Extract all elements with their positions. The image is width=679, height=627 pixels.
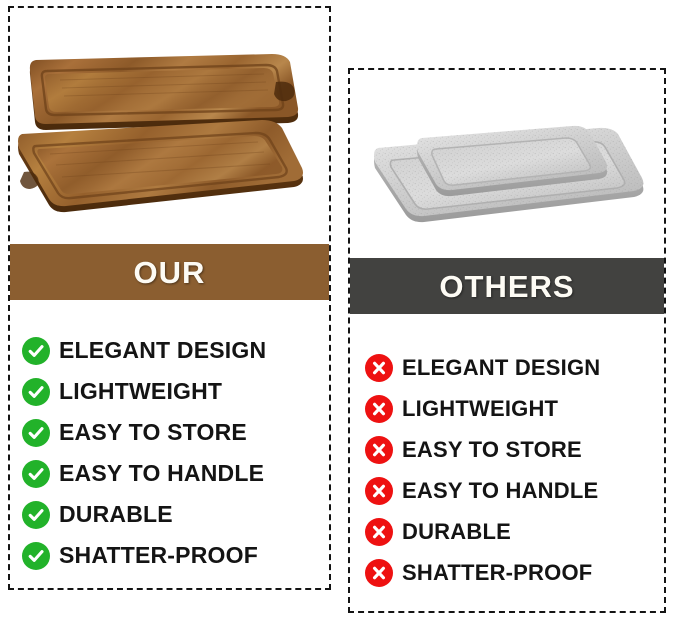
feature-row-others: EASY TO STORE (365, 429, 660, 470)
feature-label: LIGHTWEIGHT (402, 398, 558, 420)
cross-icon (365, 436, 393, 464)
feature-row-our: EASY TO STORE (22, 412, 322, 453)
cross-icon (365, 518, 393, 546)
cross-icon (365, 395, 393, 423)
feature-row-our: SHATTER-PROOF (22, 535, 322, 576)
feature-row-our: LIGHTWEIGHT (22, 371, 322, 412)
feature-label: EASY TO HANDLE (59, 462, 264, 485)
feature-list-our: ELEGANT DESIGN LIGHTWEIGHT EASY TO STORE… (22, 330, 322, 576)
wooden-trays-illustration (14, 22, 324, 236)
feature-row-others: SHATTER-PROOF (365, 552, 660, 593)
feature-row-others: LIGHTWEIGHT (365, 388, 660, 429)
cross-icon (365, 559, 393, 587)
feature-row-our: DURABLE (22, 494, 322, 535)
feature-label: EASY TO STORE (59, 421, 247, 444)
feature-label: ELEGANT DESIGN (402, 357, 600, 379)
check-icon (22, 337, 50, 365)
feature-row-others: ELEGANT DESIGN (365, 347, 660, 388)
cross-icon (365, 477, 393, 505)
feature-row-others: EASY TO HANDLE (365, 470, 660, 511)
banner-our-label: OUR (134, 257, 206, 288)
feature-row-our: ELEGANT DESIGN (22, 330, 322, 371)
product-photo-others (360, 92, 660, 252)
comparison-infographic: OUR ELEGANT DESIGN LIGHTWEIGHT EASY TO S… (0, 0, 679, 627)
feature-label: EASY TO HANDLE (402, 480, 598, 502)
feature-label: LIGHTWEIGHT (59, 380, 222, 403)
check-icon (22, 378, 50, 406)
feature-row-our: EASY TO HANDLE (22, 453, 322, 494)
banner-others: OTHERS (350, 258, 664, 314)
feature-label: EASY TO STORE (402, 439, 582, 461)
feature-label: DURABLE (59, 503, 173, 526)
banner-others-label: OTHERS (439, 271, 574, 302)
check-icon (22, 419, 50, 447)
feature-label: SHATTER-PROOF (59, 544, 258, 567)
feature-label: DURABLE (402, 521, 511, 543)
product-photo-our (14, 22, 324, 236)
check-icon (22, 460, 50, 488)
feature-row-others: DURABLE (365, 511, 660, 552)
feature-label: SHATTER-PROOF (402, 562, 592, 584)
stone-trays-illustration (360, 92, 660, 252)
check-icon (22, 501, 50, 529)
banner-our: OUR (10, 244, 329, 300)
feature-label: ELEGANT DESIGN (59, 339, 266, 362)
feature-list-others: ELEGANT DESIGN LIGHTWEIGHT EASY TO STORE… (365, 347, 660, 593)
check-icon (22, 542, 50, 570)
cross-icon (365, 354, 393, 382)
